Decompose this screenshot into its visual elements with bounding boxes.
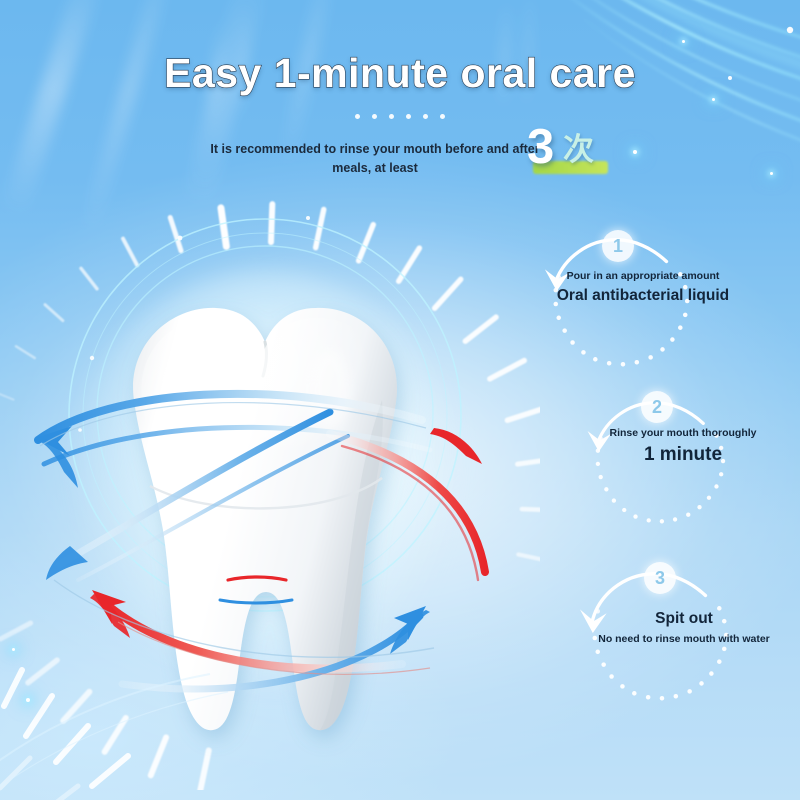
sparkle-dot <box>712 98 715 101</box>
poster-canvas: Easy 1-minute oral care It is recommende… <box>0 0 800 800</box>
step-2-text: Rinse your mouth thoroughly 1 minute <box>583 426 783 468</box>
frequency-unit: 次 <box>563 128 594 172</box>
step-3-title: Spit out <box>584 608 784 630</box>
sparkle-dot <box>12 648 15 651</box>
step-3-caption: No need to rinse mouth with water <box>584 632 784 646</box>
page-subtitle: It is recommended to rinse your mouth be… <box>190 140 560 178</box>
step-number-badge: 3 <box>644 562 676 594</box>
step-1-text: Pour in an appropriate amount Oral antib… <box>543 269 743 307</box>
frequency-badge: 3 次 <box>527 122 627 178</box>
sparkle-dot <box>633 150 637 154</box>
separator-dot <box>389 114 394 119</box>
sparkle-dot <box>682 40 685 43</box>
step-2-title: 1 minute <box>583 442 783 468</box>
sparkle-dot <box>26 698 30 702</box>
separator-dot <box>406 114 411 119</box>
page-title: Easy 1-minute oral care <box>0 50 800 97</box>
step-number-badge: 1 <box>602 230 634 262</box>
corner-tick-fan <box>0 640 280 800</box>
step-2[interactable]: 2 Rinse your mouth thoroughly 1 minute <box>570 378 800 553</box>
separator-dot <box>372 114 377 119</box>
step-1[interactable]: 1 Pour in an appropriate amount Oral ant… <box>525 212 755 387</box>
step-2-caption: Rinse your mouth thoroughly <box>583 426 783 440</box>
sparkle-dot <box>770 172 773 175</box>
step-number-badge: 2 <box>641 391 673 423</box>
separator-dot <box>355 114 360 119</box>
step-3[interactable]: 3 Spit out No need to rinse mouth with w… <box>562 548 792 723</box>
frequency-number: 3 <box>527 120 554 174</box>
step-1-caption: Pour in an appropriate amount <box>543 269 743 283</box>
dot-separator <box>0 114 800 119</box>
step-1-title: Oral antibacterial liquid <box>543 285 743 307</box>
step-3-text: Spit out No need to rinse mouth with wat… <box>584 606 784 646</box>
separator-dot <box>440 114 445 119</box>
separator-dot <box>423 114 428 119</box>
